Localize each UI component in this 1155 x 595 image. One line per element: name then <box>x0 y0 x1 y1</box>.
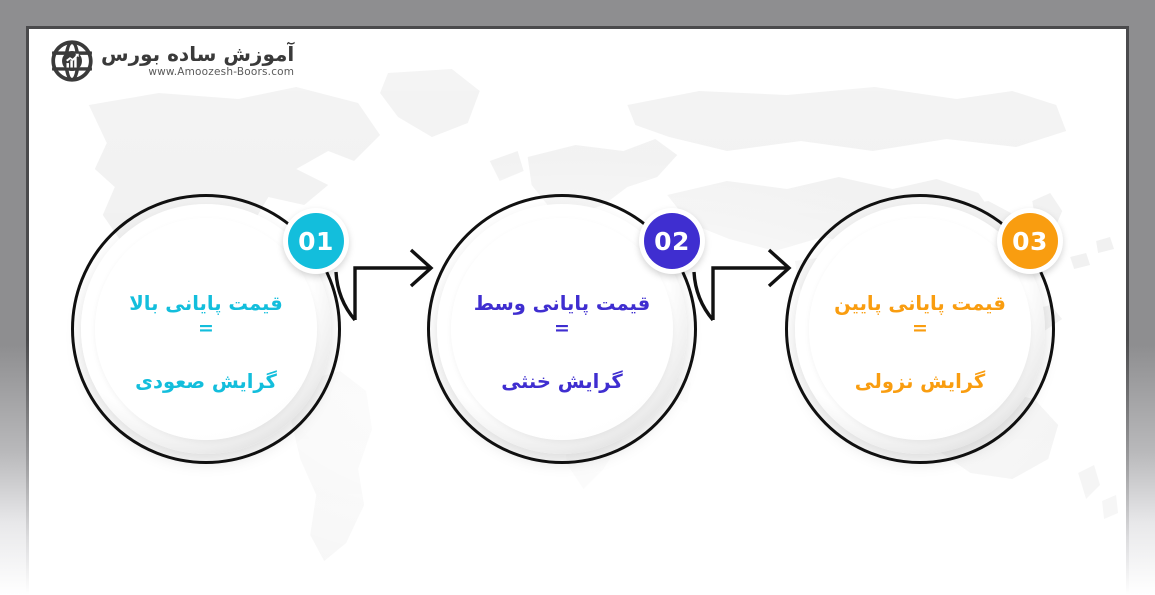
content-canvas: آموزش ساده بورس www.Amoozesh-Boors.com <box>29 29 1126 595</box>
arrow-step-1-to-2 <box>325 194 445 334</box>
step-3-badge-number: 03 <box>1002 213 1058 269</box>
arrow-step-2-to-3 <box>683 194 803 334</box>
brand-url: www.Amoozesh-Boors.com <box>148 67 294 78</box>
step-1-badge[interactable]: 01 <box>283 208 349 274</box>
brand-logo: آموزش ساده بورس www.Amoozesh-Boors.com <box>50 39 294 83</box>
brand-name-fa: آموزش ساده بورس <box>101 44 294 64</box>
step-2-badge[interactable]: 02 <box>639 208 705 274</box>
step-3-label: قیمت پایانی پایین = گرایش نزولی <box>818 262 1022 397</box>
infographic-canvas: آموزش ساده بورس www.Amoozesh-Boors.com <box>0 0 1155 595</box>
flow-step-2[interactable]: قیمت پایانی وسط = گرایش خنثی 02 <box>427 194 697 464</box>
step-2-label: قیمت پایانی وسط = گرایش خنثی <box>458 262 667 397</box>
step-2-line2: گرایش خنثی <box>501 370 623 393</box>
step-2-line1: قیمت پایانی وسط <box>474 292 651 315</box>
step-3-equals: = <box>834 318 1006 340</box>
step-1-line1: قیمت پایانی بالا <box>129 292 283 315</box>
step-2-equals: = <box>474 318 651 340</box>
step-2-badge-number: 02 <box>644 213 700 269</box>
step-1-label: قیمت پایانی بالا = گرایش صعودی <box>113 262 299 397</box>
flow-step-3[interactable]: قیمت پایانی پایین = گرایش نزولی 03 <box>785 194 1055 464</box>
step-3-line1: قیمت پایانی پایین <box>834 292 1006 315</box>
globe-bar-chart-icon <box>50 39 94 83</box>
flow-step-1[interactable]: قیمت پایانی بالا = گرایش صعودی 01 <box>71 194 341 464</box>
step-3-line2: گرایش نزولی <box>855 370 985 393</box>
process-flow: قیمت پایانی بالا = گرایش صعودی 01 قیمت پ… <box>29 179 1126 479</box>
step-1-badge-number: 01 <box>288 213 344 269</box>
step-1-equals: = <box>129 318 283 340</box>
step-1-line2: گرایش صعودی <box>135 370 277 393</box>
step-3-badge[interactable]: 03 <box>997 208 1063 274</box>
